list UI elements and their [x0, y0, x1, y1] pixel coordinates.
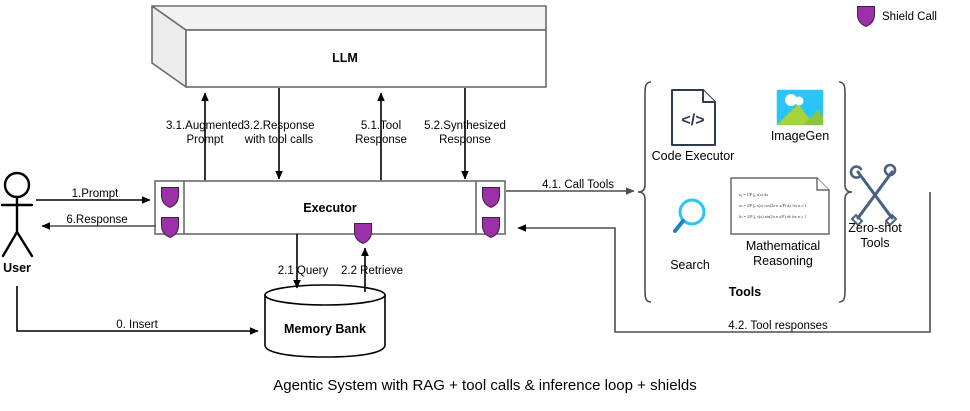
edge-label-augmented-prompt-line2: Prompt [186, 134, 224, 146]
edge-label-prompt: 1.Prompt [72, 188, 119, 200]
edge-label-insert: 0. Insert [116, 319, 158, 331]
user-head [5, 173, 29, 197]
shield-icon-memory [355, 224, 372, 244]
edge-label-augmented-prompt-line1: 3.1.Augmented [166, 120, 244, 132]
svg-text:aₙ = 2/P ∫ₚ s(x) cos(2π n x/P): aₙ = 2/P ∫ₚ s(x) cos(2π n x/P) dx for n … [739, 203, 807, 208]
edge-response: 6.Response [42, 214, 156, 226]
edge-label-tool-response-line1: 5.1.Tool [361, 120, 401, 132]
user-body [2, 197, 32, 256]
edge-label-tool-response-line2: Response [355, 134, 407, 146]
edge-label-response-tool-calls-line1: 3.2.Response [244, 120, 315, 132]
tool-label-code-executor: Code Executor [652, 149, 735, 163]
executor-label: Executor [303, 201, 357, 215]
edge-insert: 0. Insert [17, 286, 258, 331]
tool-label-math-line1: Mathematical [746, 239, 820, 253]
tool-mathematical-reasoning[interactable]: a₀ = 1/P ∫ₚ s(x) dx aₙ = 2/P ∫ₚ s(x) cos… [731, 178, 829, 268]
tools-group-label: Tools [729, 285, 761, 299]
user-label: User [3, 261, 31, 275]
tool-label-search: Search [670, 258, 710, 272]
edge-response-with-tool-calls: 3.2.Response with tool calls [244, 88, 315, 179]
edge-label-synthesized-line1: 5.2.Synthesized [424, 120, 506, 132]
edge-query: 2.1 Query [278, 234, 329, 288]
edge-label-response: 6.Response [66, 214, 127, 226]
edge-prompt: 1.Prompt [36, 188, 150, 200]
llm-box-top [152, 6, 546, 30]
crossed-wrenches-icon [851, 165, 896, 225]
edge-label-retrieve: 2.2 Retrieve [341, 265, 403, 277]
tool-label-imagegen: ImageGen [771, 129, 829, 143]
memory-bank-top [265, 285, 385, 305]
svg-text:bₙ = 2/P ∫ₚ s(x) sin(2π n x/P): bₙ = 2/P ∫ₚ s(x) sin(2π n x/P) dx for n … [739, 214, 806, 219]
edge-label-synthesized-line2: Response [439, 134, 491, 146]
tool-zero-shot[interactable]: Zero-shot Tools [848, 165, 902, 250]
edge-label-query: 2.1 Query [278, 265, 329, 277]
code-glyph: </> [681, 112, 704, 129]
edge-label-response-tool-calls-line2: with tool calls [244, 134, 314, 146]
llm-node[interactable]: LLM [152, 6, 546, 87]
llm-box-front [186, 30, 546, 87]
tool-search[interactable]: Search [670, 200, 710, 272]
edge-synthesized-response: 5.2.Synthesized Response [424, 88, 506, 179]
tool-label-math-line2: Reasoning [753, 254, 813, 268]
search-magnifier-icon [675, 200, 704, 231]
legend-shield-call: Shield Call [858, 7, 937, 27]
tool-code-executor[interactable]: </> Code Executor [652, 90, 735, 163]
tool-imagegen[interactable]: ImageGen [771, 89, 830, 143]
memory-bank-label: Memory Bank [284, 322, 366, 336]
edge-label-tool-responses: 4.2. Tool responses [728, 320, 828, 332]
edge-call-tools: 4.1. Call Tools [506, 179, 634, 191]
legend-label-shield-call: Shield Call [882, 11, 937, 23]
user-actor[interactable]: User [2, 173, 32, 275]
edge-tool-response: 5.1.Tool Response [355, 93, 407, 184]
tool-label-zero-shot-line1: Zero-shot [848, 221, 902, 235]
memory-bank-node[interactable]: Memory Bank [265, 285, 385, 357]
svg-text:a₀ = 1/P ∫ₚ s(x) dx: a₀ = 1/P ∫ₚ s(x) dx [739, 192, 768, 197]
llm-label: LLM [332, 51, 358, 65]
edge-tool-responses: 4.2. Tool responses [518, 192, 930, 332]
tool-label-zero-shot-line2: Tools [860, 236, 889, 250]
edge-augmented-prompt: 3.1.Augmented Prompt [166, 93, 244, 184]
diagram-canvas: LLM 3.1.Augmented Prompt 3.2.Response wi… [0, 0, 970, 411]
executor-node[interactable]: Executor [155, 181, 505, 243]
edge-label-call-tools: 4.1. Call Tools [542, 179, 614, 191]
image-gen-icon [776, 89, 830, 126]
diagram-caption: Agentic System with RAG + tool calls & i… [273, 377, 697, 394]
